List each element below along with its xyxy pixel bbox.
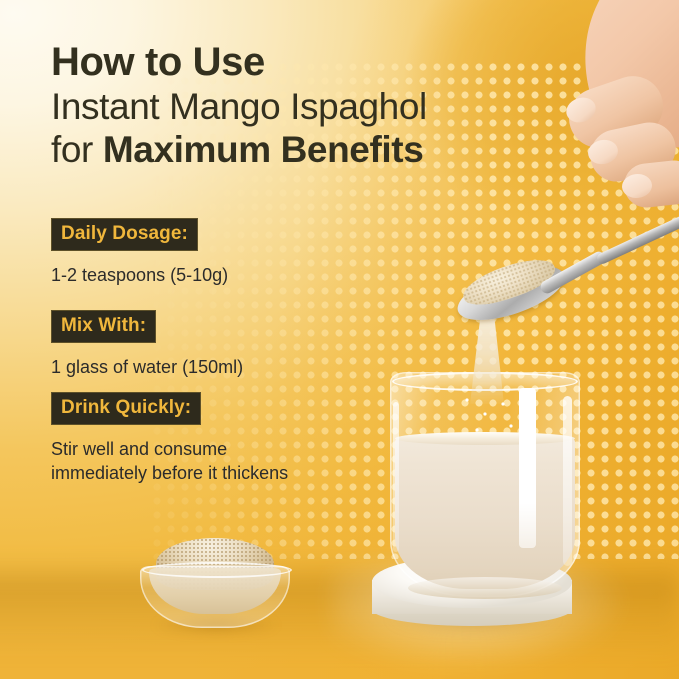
page-title-line2: Instant Mango Ispaghol: [51, 85, 571, 128]
heading-block: How to Use Instant Mango Ispaghol for Ma…: [51, 40, 571, 171]
hand-holding-spoon: [560, 0, 679, 286]
section-mix-with: Mix With: 1 glass of water (150ml): [51, 310, 243, 379]
text-drink-quickly-line2: immediately before it thickens: [51, 461, 288, 485]
text-drink-quickly: Stir well and consume immediately before…: [51, 437, 288, 485]
text-daily-dosage: 1-2 teaspoons (5-10g): [51, 263, 228, 287]
badge-mix-with: Mix With:: [51, 310, 156, 343]
badge-daily-dosage: Daily Dosage:: [51, 218, 198, 251]
glass-bowl-of-powder: [140, 540, 290, 632]
glass-right-edge-highlight: [563, 396, 572, 566]
glass-left-edge-highlight: [393, 402, 399, 552]
page-title-line3-emphasis: Maximum Benefits: [103, 129, 424, 170]
badge-drink-quickly: Drink Quickly:: [51, 392, 201, 425]
poster: How to Use Instant Mango Ispaghol for Ma…: [0, 0, 679, 679]
bowl-rim: [142, 562, 292, 578]
section-daily-dosage: Daily Dosage: 1-2 teaspoons (5-10g): [51, 218, 228, 287]
glass-liquid: [395, 438, 575, 589]
page-title-line3-prefix: for: [51, 129, 103, 170]
text-mix-with: 1 glass of water (150ml): [51, 355, 243, 379]
glass-base: [408, 577, 562, 599]
powder-sparkle-particles: [455, 392, 525, 444]
page-title-line3: for Maximum Benefits: [51, 128, 571, 171]
section-drink-quickly: Drink Quickly: Stir well and consume imm…: [51, 392, 288, 485]
page-title-line1: How to Use: [51, 40, 571, 85]
text-drink-quickly-line1: Stir well and consume: [51, 437, 288, 461]
